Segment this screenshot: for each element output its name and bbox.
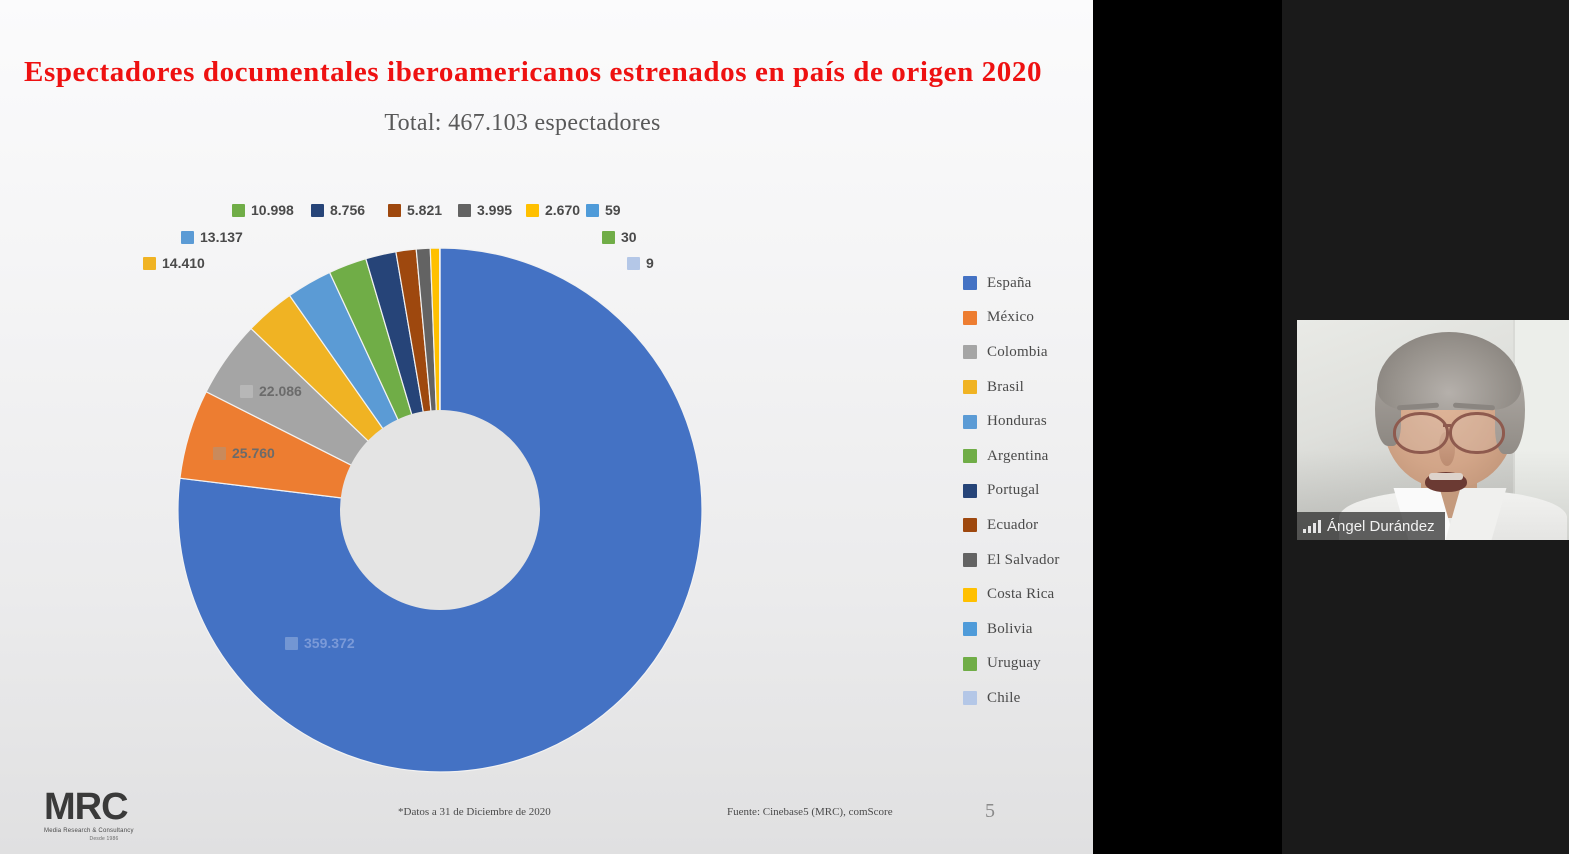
legend-item-label: España	[987, 275, 1032, 292]
legend-item-costa-rica[interactable]: Costa Rica	[963, 577, 1083, 612]
logo-mark: MRC	[44, 788, 164, 826]
legend-swatch-icon	[963, 345, 977, 359]
swatch-honduras	[181, 231, 194, 244]
letterbox-black	[1093, 0, 1282, 854]
legend-swatch-icon	[963, 484, 977, 498]
signal-bars-icon	[1303, 519, 1321, 533]
legend-item-méxico[interactable]: México	[963, 301, 1083, 336]
legend-item-label: México	[987, 309, 1034, 326]
legend-item-label: Argentina	[987, 448, 1049, 465]
legend-item-portugal[interactable]: Portugal	[963, 474, 1083, 509]
swatch-argentina	[232, 204, 245, 217]
legend-swatch-icon	[963, 518, 977, 532]
page-number: 5	[985, 800, 995, 823]
legend-item-label: Costa Rica	[987, 586, 1054, 603]
video-participant-tile[interactable]: Ángel Durández	[1297, 320, 1569, 540]
mrc-logo: MRC Media Research & Consultancy Desde 1…	[44, 788, 164, 842]
legend-swatch-icon	[963, 449, 977, 463]
legend-swatch-icon	[963, 311, 977, 325]
legend-swatch-icon	[963, 657, 977, 671]
screen-root: Espectadores documentales iberoamericano…	[0, 0, 1569, 854]
swatch-ecuador	[388, 204, 401, 217]
swatch-chile	[627, 257, 640, 270]
data-label-bolivia: 59	[586, 202, 621, 218]
swatch-espana	[285, 637, 298, 650]
swatch-brasil	[143, 257, 156, 270]
data-label-portugal: 8.756	[311, 202, 365, 218]
legend-item-el-salvador[interactable]: El Salvador	[963, 543, 1083, 578]
footnote: *Datos a 31 de Diciembre de 2020	[398, 806, 551, 818]
swatch-bolivia	[586, 204, 599, 217]
legend-item-honduras[interactable]: Honduras	[963, 404, 1083, 439]
legend-item-label: Chile	[987, 690, 1021, 707]
legend-swatch-icon	[963, 622, 977, 636]
swatch-el-salvador	[458, 204, 471, 217]
swatch-colombia	[240, 385, 253, 398]
logo-since: Desde 1986	[44, 836, 164, 842]
logo-subtitle: Media Research & Consultancy	[44, 828, 164, 834]
chart-legend: EspañaMéxicoColombiaBrasilHondurasArgent…	[963, 266, 1083, 716]
data-label-brasil: 14.410	[143, 255, 205, 271]
legend-item-label: El Salvador	[987, 552, 1060, 569]
legend-swatch-icon	[963, 380, 977, 394]
swatch-mexico	[213, 447, 226, 460]
data-label-espana: 359.372	[285, 635, 355, 651]
legend-item-ecuador[interactable]: Ecuador	[963, 508, 1083, 543]
donut-chart	[178, 248, 702, 772]
data-label-mexico: 25.760	[213, 445, 275, 461]
presentation-slide: Espectadores documentales iberoamericano…	[0, 0, 1093, 854]
person-teeth	[1429, 473, 1463, 480]
legend-item-argentina[interactable]: Argentina	[963, 439, 1083, 474]
legend-item-label: Uruguay	[987, 655, 1041, 672]
swatch-costa-rica	[526, 204, 539, 217]
data-label-uruguay: 30	[602, 229, 637, 245]
data-label-ecuador: 5.821	[388, 202, 442, 218]
swatch-uruguay	[602, 231, 615, 244]
donut-hole	[340, 410, 540, 610]
legend-item-brasil[interactable]: Brasil	[963, 370, 1083, 405]
person-glasses-right	[1449, 412, 1505, 454]
participant-name: Ángel Durández	[1327, 518, 1435, 535]
slide-title: Espectadores documentales iberoamericano…	[24, 56, 1044, 89]
legend-swatch-icon	[963, 415, 977, 429]
legend-item-uruguay[interactable]: Uruguay	[963, 647, 1083, 682]
data-label-honduras: 13.137	[181, 229, 243, 245]
legend-item-label: Brasil	[987, 379, 1024, 396]
data-label-chile: 9	[627, 255, 654, 271]
participant-name-bar: Ángel Durández	[1297, 512, 1445, 540]
source-note: Fuente: Cinebase5 (MRC), comScore	[727, 806, 893, 818]
donut-chart-svg	[178, 248, 702, 772]
person-glasses-left	[1393, 412, 1449, 454]
data-label-colombia: 22.086	[240, 383, 302, 399]
legend-swatch-icon	[963, 691, 977, 705]
legend-item-chile[interactable]: Chile	[963, 681, 1083, 716]
legend-item-colombia[interactable]: Colombia	[963, 335, 1083, 370]
legend-item-label: Portugal	[987, 482, 1039, 499]
slide-subtitle: Total: 467.103 espectadores	[0, 110, 1045, 137]
data-label-costa-rica: 2.670	[526, 202, 580, 218]
legend-item-españa[interactable]: España	[963, 266, 1083, 301]
legend-swatch-icon	[963, 276, 977, 290]
legend-item-bolivia[interactable]: Bolivia	[963, 612, 1083, 647]
data-label-argentina: 10.998	[232, 202, 294, 218]
data-label-el-salvador: 3.995	[458, 202, 512, 218]
legend-item-label: Colombia	[987, 344, 1048, 361]
legend-item-label: Ecuador	[987, 517, 1038, 534]
legend-item-label: Honduras	[987, 413, 1047, 430]
legend-swatch-icon	[963, 588, 977, 602]
swatch-portugal	[311, 204, 324, 217]
legend-item-label: Bolivia	[987, 621, 1033, 638]
legend-swatch-icon	[963, 553, 977, 567]
person-glasses-bridge	[1443, 424, 1451, 427]
